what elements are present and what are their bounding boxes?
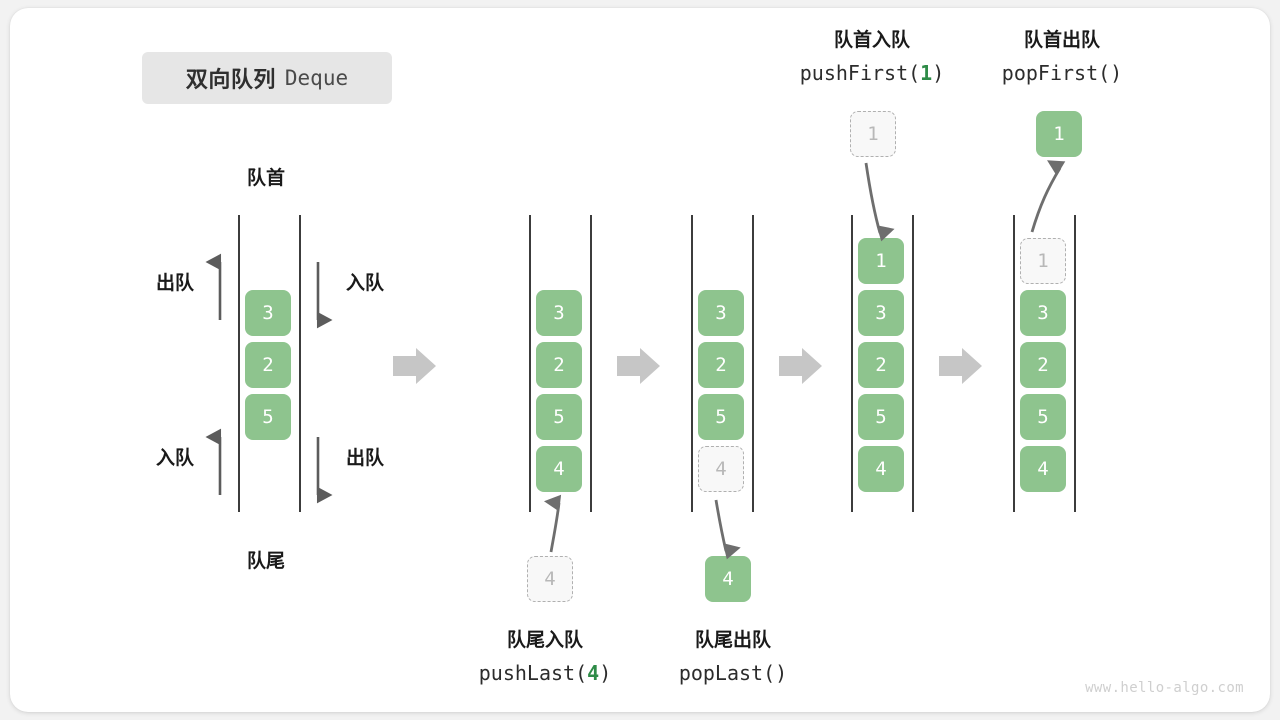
cell-s4-incoming-ghost: 1 <box>850 111 896 157</box>
cell-s2-3: 4 <box>536 446 582 492</box>
cell-s3-3-ghost: 4 <box>698 446 744 492</box>
cell-s4-1: 3 <box>858 290 904 336</box>
cell-s3-outgoing: 4 <box>705 556 751 602</box>
caption-pop-last-code: popLast() <box>613 659 853 687</box>
cell-s2-0: 3 <box>536 290 582 336</box>
rail-left-5 <box>1013 215 1015 512</box>
caption-pop-first: 队首出队 popFirst() <box>942 28 1182 87</box>
cell-s4-0: 1 <box>858 238 904 284</box>
cell-s1-0: 3 <box>245 290 291 336</box>
push-last-fn: pushLast( <box>479 661 587 685</box>
head-label: 队首 <box>206 163 326 190</box>
cell-s1-2: 5 <box>245 394 291 440</box>
cell-s4-3: 5 <box>858 394 904 440</box>
pop-first-close: ) <box>1110 61 1122 85</box>
cell-s2-1: 2 <box>536 342 582 388</box>
cell-s5-0-ghost: 1 <box>1020 238 1066 284</box>
diagram-card <box>10 8 1270 712</box>
cell-s5-1: 3 <box>1020 290 1066 336</box>
title-chinese: 双向队列 <box>186 62 276 94</box>
push-last-arg: 4 <box>587 661 599 685</box>
cell-s5-outgoing: 1 <box>1036 111 1082 157</box>
cell-s4-2: 2 <box>858 342 904 388</box>
caption-pop-first-code: popFirst() <box>942 59 1182 87</box>
cell-s1-1: 2 <box>245 342 291 388</box>
rail-left-2 <box>529 215 531 512</box>
tail-label: 队尾 <box>206 546 326 573</box>
push-first-fn: pushFirst( <box>800 61 920 85</box>
rail-left-1 <box>238 215 240 512</box>
cell-s5-3: 5 <box>1020 394 1066 440</box>
title-english: Deque <box>285 66 348 90</box>
rail-right-2 <box>590 215 592 512</box>
rail-left-4 <box>851 215 853 512</box>
cell-s5-4: 4 <box>1020 446 1066 492</box>
rail-right-1 <box>299 215 301 512</box>
watermark: www.hello-algo.com <box>1085 680 1244 696</box>
cell-s5-2: 2 <box>1020 342 1066 388</box>
caption-pop-last: 队尾出队 popLast() <box>613 628 853 687</box>
pop-last-close: ) <box>775 661 787 685</box>
cell-s2-incoming-ghost: 4 <box>527 556 573 602</box>
pop-first-fn: popFirst( <box>1002 61 1110 85</box>
rail-left-3 <box>691 215 693 512</box>
cell-s4-4: 4 <box>858 446 904 492</box>
rail-right-4 <box>912 215 914 512</box>
cell-s3-0: 3 <box>698 290 744 336</box>
caption-pop-first-cn: 队首出队 <box>942 28 1182 55</box>
cell-s3-2: 5 <box>698 394 744 440</box>
push-first-arg: 1 <box>920 61 932 85</box>
title-badge: 双向队列 Deque <box>142 52 392 104</box>
label-bottom-right-dequeue: 出队 <box>330 443 400 470</box>
pop-last-fn: popLast( <box>679 661 775 685</box>
diagram-canvas: 双向队列 Deque 队首 队尾 出队 入队 入队 出队 3 2 5 3 2 5… <box>0 0 1280 720</box>
label-top-left-dequeue: 出队 <box>140 268 210 295</box>
cell-s3-1: 2 <box>698 342 744 388</box>
rail-right-3 <box>752 215 754 512</box>
rail-right-5 <box>1074 215 1076 512</box>
label-bottom-left-enqueue: 入队 <box>140 443 210 470</box>
caption-pop-last-cn: 队尾出队 <box>613 628 853 655</box>
cell-s2-2: 5 <box>536 394 582 440</box>
push-last-close: ) <box>599 661 611 685</box>
label-top-right-enqueue: 入队 <box>330 268 400 295</box>
